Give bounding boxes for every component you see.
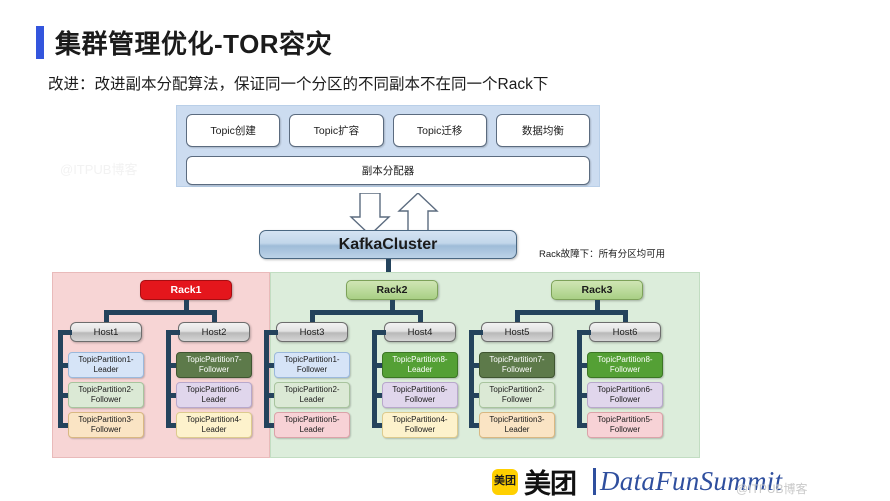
partition-box[interactable]: TopicPartition5-Leader — [274, 412, 350, 438]
partition-box[interactable]: TopicPartition8-Leader — [382, 352, 458, 378]
partition-role: Follower — [199, 365, 229, 375]
connector-rack3-bus — [517, 310, 625, 315]
partition-role: Leader — [408, 365, 433, 375]
topic-op-box-2[interactable]: Topic扩容 — [289, 114, 383, 147]
connector-host2-stub — [166, 330, 180, 335]
partition-name: TopicPartition5- — [284, 415, 339, 425]
connector-host6-drop — [623, 310, 628, 322]
partition-name: TopicPartition1- — [78, 355, 133, 365]
rack-header-rack3[interactable]: Rack3 — [551, 280, 643, 300]
connector-host4-spine — [372, 330, 377, 425]
partition-box[interactable]: TopicPartition6-Follower — [587, 382, 663, 408]
partition-role: Follower — [502, 365, 532, 375]
partition-box[interactable]: TopicPartition4-Follower — [382, 412, 458, 438]
connector-host5-drop — [515, 310, 520, 322]
partition-role: Follower — [610, 425, 640, 435]
partition-name: TopicPartition8- — [597, 355, 652, 365]
connector-host1-drop — [104, 310, 109, 322]
partition-box[interactable]: TopicPartition4-Leader — [176, 412, 252, 438]
connector-host2-drop — [212, 310, 217, 322]
partition-name: TopicPartition6- — [392, 385, 447, 395]
title-accent-bar — [36, 26, 44, 59]
replica-allocator-box[interactable]: 副本分配器 — [186, 156, 590, 185]
partition-name: TopicPartition2- — [489, 385, 544, 395]
partition-role: Follower — [502, 395, 532, 405]
datafun-divider-bar — [593, 468, 596, 495]
partition-box[interactable]: TopicPartition3-Leader — [479, 412, 555, 438]
meituan-wordmark: 美团 — [524, 462, 576, 501]
partition-box[interactable]: TopicPartition2-Leader — [274, 382, 350, 408]
partition-role: Follower — [297, 365, 327, 375]
connector-host4-drop — [418, 310, 423, 322]
partition-role: Follower — [610, 365, 640, 375]
page-title: 集群管理优化-TOR容灾 — [36, 24, 332, 61]
partition-name: TopicPartition8- — [392, 355, 447, 365]
partition-name: TopicPartition5- — [597, 415, 652, 425]
rack-failure-note: Rack故障下：所有分区均可用 — [539, 246, 665, 260]
partition-role: Leader — [505, 425, 530, 435]
connector-host5-spine — [469, 330, 474, 425]
partition-name: TopicPartition6- — [186, 385, 241, 395]
partition-role: Follower — [405, 425, 435, 435]
connector-host2-spine — [166, 330, 171, 425]
host-node-host4[interactable]: Host4 — [384, 322, 456, 342]
rack-header-rack2[interactable]: Rack2 — [346, 280, 438, 300]
partition-name: TopicPartition2- — [78, 385, 133, 395]
diagram-canvas: @ITPUB博客 Topic创建Topic扩容Topic迁移数据均衡 副本分配器… — [52, 100, 890, 463]
kafka-cluster-node[interactable]: KafkaCluster — [259, 230, 517, 259]
meituan-logo-icon: 美团 — [492, 469, 518, 495]
footer-watermark: @ITPUB博客 — [736, 480, 808, 497]
topic-ops-panel: Topic创建Topic扩容Topic迁移数据均衡 副本分配器 — [176, 105, 600, 187]
partition-role: Leader — [94, 365, 119, 375]
host-node-host5[interactable]: Host5 — [481, 322, 553, 342]
partition-role: Follower — [91, 395, 121, 405]
connector-host1-stub — [58, 330, 72, 335]
partition-box[interactable]: TopicPartition7-Follower — [176, 352, 252, 378]
connector-host3-drop — [310, 310, 315, 322]
partition-box[interactable]: TopicPartition5-Follower — [587, 412, 663, 438]
connector-host3-spine — [264, 330, 269, 425]
connector-rack2-stem — [390, 300, 395, 310]
partition-role: Leader — [202, 425, 227, 435]
partition-box[interactable]: TopicPartition2-Follower — [479, 382, 555, 408]
partition-name: TopicPartition3- — [489, 415, 544, 425]
subtitle-text: 改进：改进副本分配算法，保证同一个分区的不同副本不在同一个Rack下 — [48, 72, 548, 94]
arrow-down-outline-icon — [351, 193, 389, 235]
partition-role: Leader — [300, 395, 325, 405]
connector-host6-stub — [577, 330, 591, 335]
host-node-host2[interactable]: Host2 — [178, 322, 250, 342]
connector-host4-stub — [372, 330, 386, 335]
partition-role: Follower — [610, 395, 640, 405]
connector-host3-stub — [264, 330, 278, 335]
partition-box[interactable]: TopicPartition7-Follower — [479, 352, 555, 378]
connector-rack1-stem — [184, 300, 189, 310]
connector-rack3-stem — [595, 300, 600, 310]
slide-root: 集群管理优化-TOR容灾 改进：改进副本分配算法，保证同一个分区的不同副本不在同… — [0, 0, 890, 501]
connector-rack1-bus — [106, 310, 214, 315]
partition-name: TopicPartition7- — [489, 355, 544, 365]
topic-op-box-3[interactable]: Topic迁移 — [393, 114, 487, 147]
partition-name: TopicPartition3- — [78, 415, 133, 425]
connector-host6-spine — [577, 330, 582, 425]
partition-name: TopicPartition6- — [597, 385, 652, 395]
partition-box[interactable]: TopicPartition6-Follower — [382, 382, 458, 408]
partition-role: Follower — [405, 395, 435, 405]
partition-role: Follower — [91, 425, 121, 435]
partition-box[interactable]: TopicPartition1-Leader — [68, 352, 144, 378]
topic-ops-row: Topic创建Topic扩容Topic迁移数据均衡 — [186, 114, 590, 147]
topic-op-box-4[interactable]: 数据均衡 — [496, 114, 590, 147]
background-watermark: @ITPUB博客 — [60, 160, 137, 180]
connector-host5-stub — [469, 330, 483, 335]
partition-role: Leader — [202, 395, 227, 405]
partition-box[interactable]: TopicPartition3-Follower — [68, 412, 144, 438]
connector-rack2-bus — [312, 310, 420, 315]
host-node-host3[interactable]: Host3 — [276, 322, 348, 342]
partition-box[interactable]: TopicPartition2-Follower — [68, 382, 144, 408]
partition-name: TopicPartition4- — [392, 415, 447, 425]
partition-name: TopicPartition4- — [186, 415, 241, 425]
arrow-up-outline-icon — [399, 193, 437, 235]
partition-name: TopicPartition1- — [284, 355, 339, 365]
rack-header-rack1[interactable]: Rack1 — [140, 280, 232, 300]
host-node-host1[interactable]: Host1 — [70, 322, 142, 342]
connector-host1-spine — [58, 330, 63, 425]
partition-name: TopicPartition2- — [284, 385, 339, 395]
topic-op-box-1[interactable]: Topic创建 — [186, 114, 280, 147]
partition-role: Leader — [300, 425, 325, 435]
partition-name: TopicPartition7- — [186, 355, 241, 365]
partition-box[interactable]: TopicPartition1-Follower — [274, 352, 350, 378]
bidirectional-arrows — [346, 193, 442, 235]
partition-box[interactable]: TopicPartition6-Leader — [176, 382, 252, 408]
host-node-host6[interactable]: Host6 — [589, 322, 661, 342]
title-text: 集群管理优化-TOR容灾 — [55, 24, 332, 61]
partition-box[interactable]: TopicPartition8-Follower — [587, 352, 663, 378]
